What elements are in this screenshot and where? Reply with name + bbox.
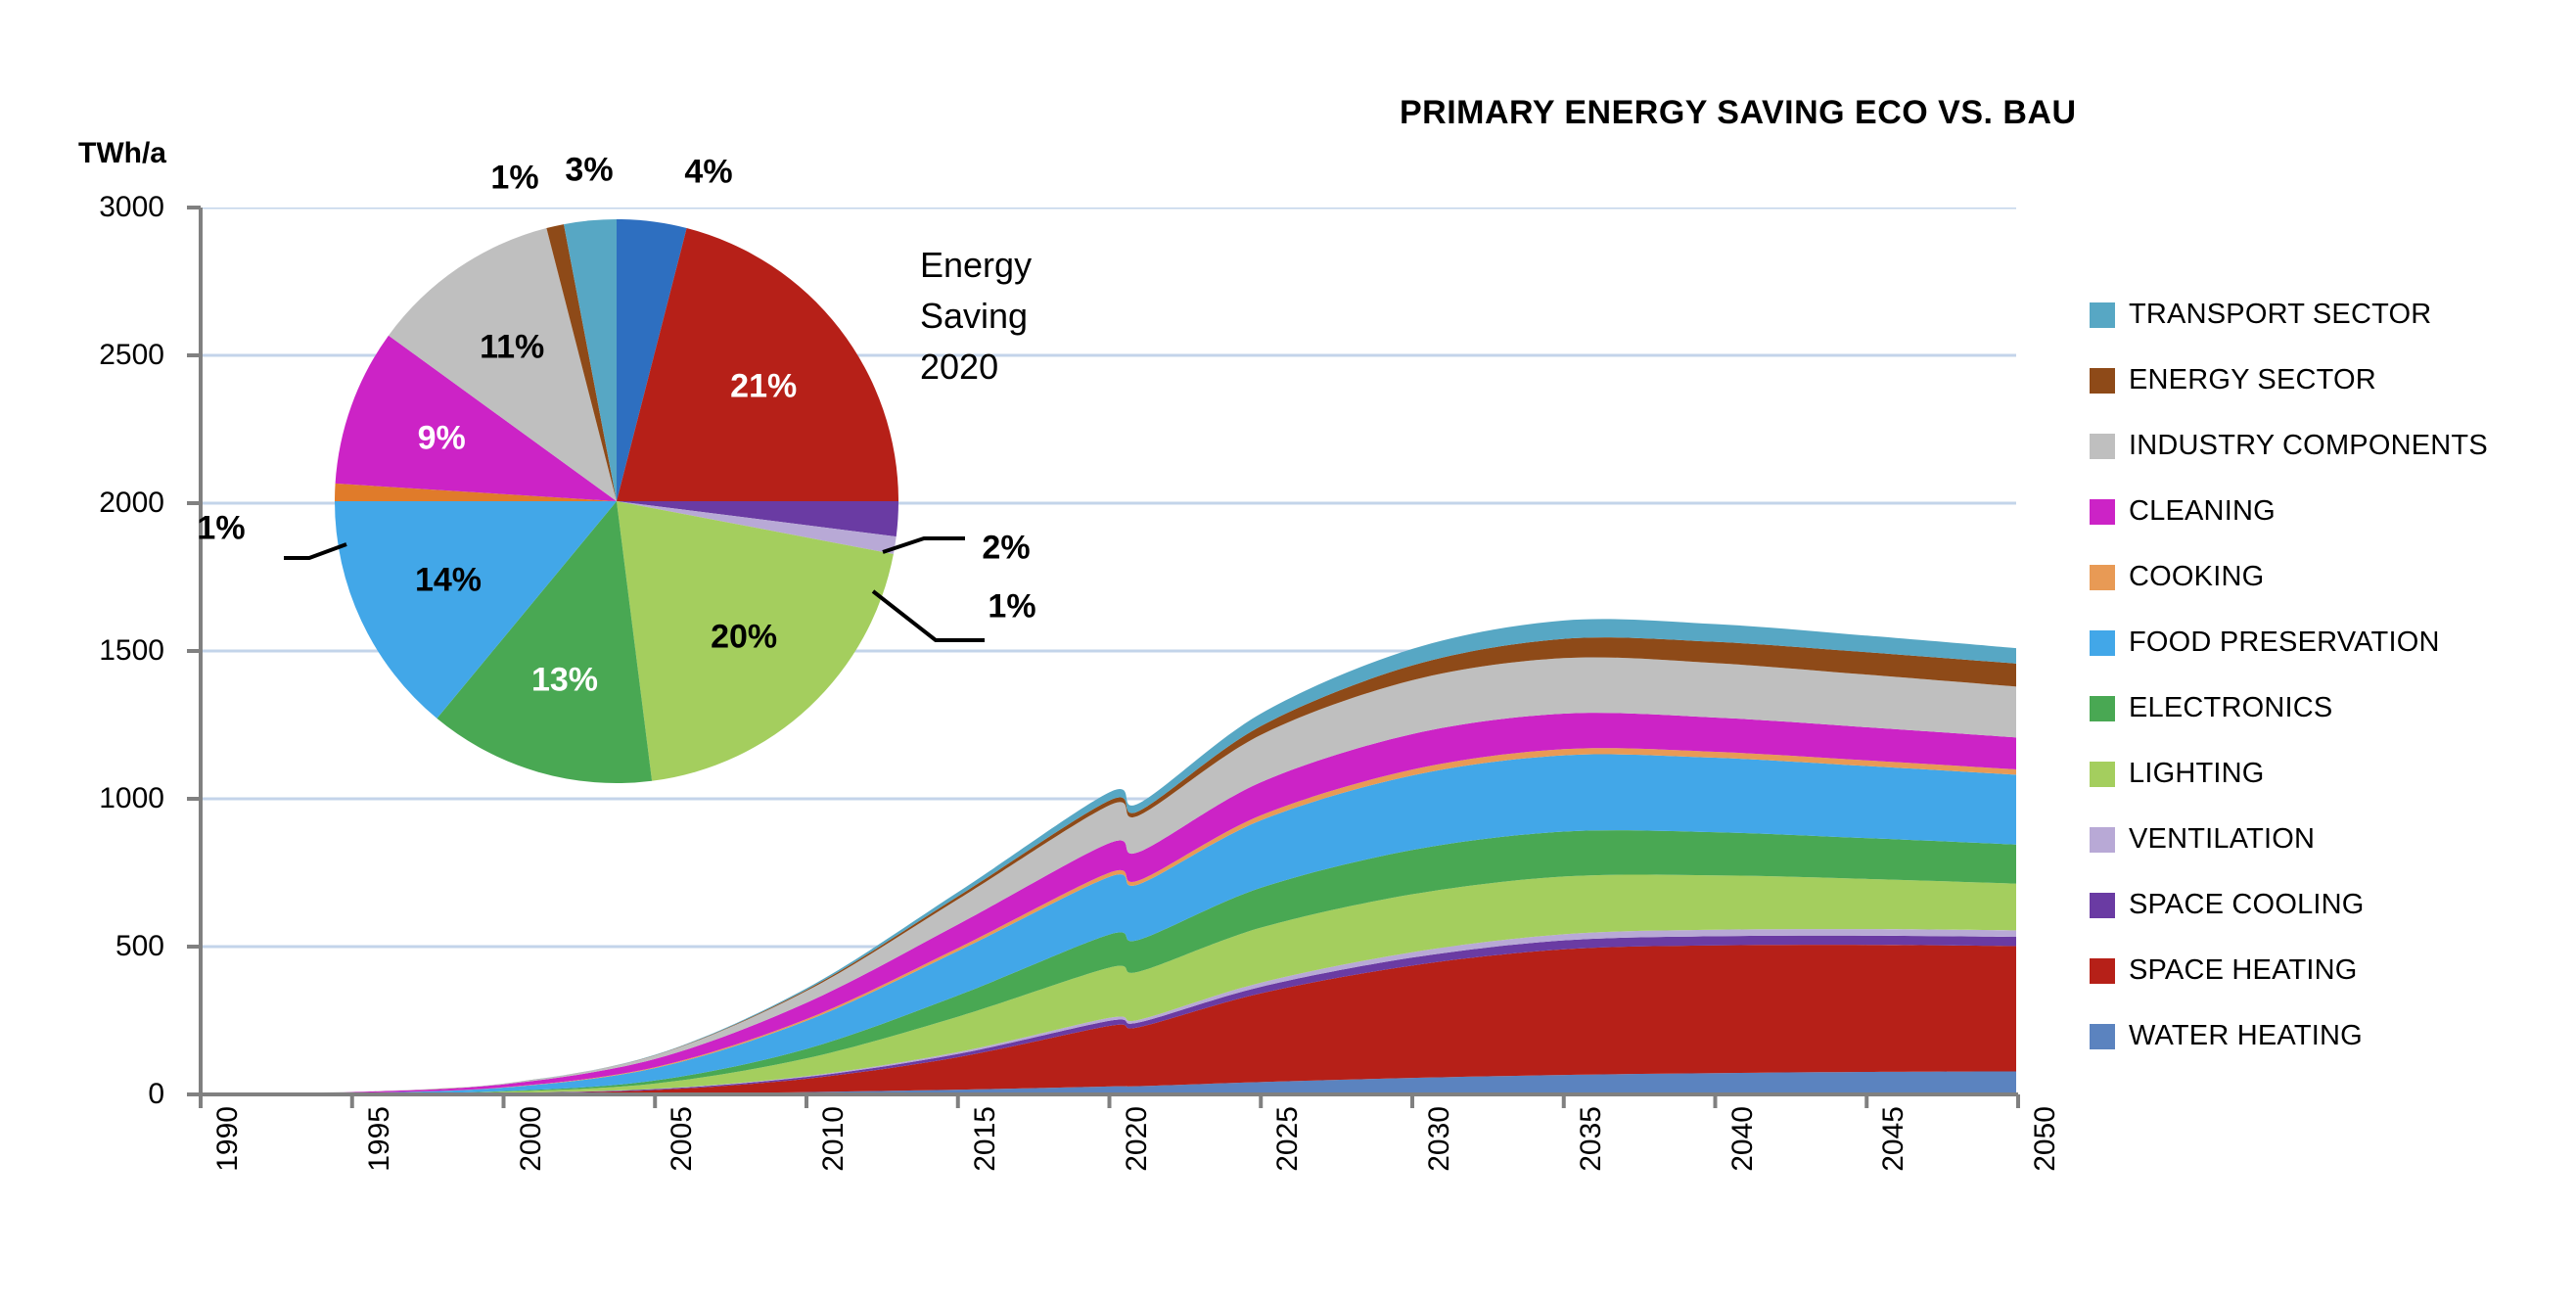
legend-swatch-icon bbox=[2090, 696, 2115, 721]
legend-item[interactable]: CLEANING bbox=[2090, 479, 2550, 544]
legend-item-label: CLEANING bbox=[2129, 495, 2276, 528]
legend-swatch-icon bbox=[2090, 302, 2115, 328]
pie-slice-percentage: 1% bbox=[490, 160, 538, 198]
pie-slice-percentage: 11% bbox=[480, 328, 544, 366]
x-tick-label: 2020 bbox=[1121, 1106, 1154, 1172]
legend-item[interactable]: LIGHTING bbox=[2090, 741, 2550, 807]
legend-item-label: INDUSTRY COMPONENTS bbox=[2129, 430, 2488, 462]
legend-swatch-icon bbox=[2090, 499, 2115, 525]
legend-item-label: FOOD PRESERVATION bbox=[2129, 627, 2440, 659]
pie-slice-percentage: 3% bbox=[565, 152, 613, 190]
x-tick-label: 2015 bbox=[969, 1106, 1002, 1172]
x-axis-ticks: 1990199520002005201020152020202520302035… bbox=[201, 1106, 2016, 1292]
legend-item-label: LIGHTING bbox=[2129, 758, 2265, 790]
pie-slice-percentage: 4% bbox=[684, 154, 732, 192]
y-tick-label: 2000 bbox=[99, 487, 164, 520]
y-tick-label: 0 bbox=[148, 1078, 164, 1111]
x-tick-label: 2045 bbox=[1877, 1106, 1910, 1172]
legend-item[interactable]: COOKING bbox=[2090, 544, 2550, 610]
legend-item-label: ELECTRONICS bbox=[2129, 692, 2332, 724]
legend-swatch-icon bbox=[2090, 630, 2115, 656]
legend-item[interactable]: VENTILATION bbox=[2090, 807, 2550, 872]
x-tick-label: 1995 bbox=[363, 1106, 396, 1172]
y-tick-label: 1500 bbox=[99, 634, 164, 668]
pie-slices bbox=[333, 217, 900, 785]
legend-item[interactable]: FOOD PRESERVATION bbox=[2090, 610, 2550, 675]
x-tick-label: 2035 bbox=[1575, 1106, 1608, 1172]
pie-chart: 4%21%2%1%20%13%14%1%9%11%1%3% bbox=[333, 217, 900, 785]
legend-item[interactable]: SPACE COOLING bbox=[2090, 872, 2550, 938]
pie-slice-percentage: 1% bbox=[988, 588, 1035, 627]
pie-slice-percentage: 13% bbox=[531, 661, 598, 699]
pie-slice-percentage: 20% bbox=[711, 618, 777, 656]
legend-item-label: WATER HEATING bbox=[2129, 1020, 2363, 1052]
chart-page: PRIMARY ENERGY SAVING ECO VS. BAU TWh/a … bbox=[0, 0, 2576, 1300]
legend-item[interactable]: ELECTRONICS bbox=[2090, 675, 2550, 741]
y-tick-label: 2500 bbox=[99, 339, 164, 372]
legend-swatch-icon bbox=[2090, 958, 2115, 984]
legend-item[interactable]: WATER HEATING bbox=[2090, 1003, 2550, 1069]
pie-title: Energy Saving 2020 bbox=[920, 240, 1032, 393]
y-tick-label: 500 bbox=[115, 930, 164, 963]
y-axis-ticks: 050010001500200025003000 bbox=[0, 0, 186, 1300]
legend-item-label: TRANSPORT SECTOR bbox=[2129, 299, 2431, 331]
y-tick-label: 3000 bbox=[99, 191, 164, 224]
x-tick-label: 2005 bbox=[666, 1106, 699, 1172]
page-title: PRIMARY ENERGY SAVING ECO VS. BAU bbox=[1400, 94, 2077, 132]
legend-swatch-icon bbox=[2090, 1024, 2115, 1049]
x-tick-label: 2000 bbox=[515, 1106, 548, 1172]
legend-swatch-icon bbox=[2090, 827, 2115, 853]
legend-swatch-icon bbox=[2090, 565, 2115, 590]
pie-slice-percentage: 9% bbox=[418, 419, 466, 457]
x-tick-label: 2025 bbox=[1271, 1106, 1305, 1172]
legend-swatch-icon bbox=[2090, 762, 2115, 787]
x-tick-label: 1990 bbox=[211, 1106, 245, 1172]
x-tick-label: 2010 bbox=[817, 1106, 851, 1172]
pie-slice-percentage: 14% bbox=[415, 561, 482, 599]
legend-item-label: VENTILATION bbox=[2129, 823, 2315, 856]
x-tick-label: 2050 bbox=[2029, 1106, 2062, 1172]
legend-item[interactable]: ENERGY SECTOR bbox=[2090, 348, 2550, 413]
legend-item-label: ENERGY SECTOR bbox=[2129, 364, 2376, 396]
legend-item-label: SPACE COOLING bbox=[2129, 889, 2365, 921]
legend-swatch-icon bbox=[2090, 434, 2115, 459]
x-tick-label: 2040 bbox=[1726, 1106, 1760, 1172]
pie-slice-percentage: 21% bbox=[730, 368, 797, 406]
legend-item[interactable]: INDUSTRY COMPONENTS bbox=[2090, 413, 2550, 479]
legend-item[interactable]: SPACE HEATING bbox=[2090, 938, 2550, 1003]
legend-swatch-icon bbox=[2090, 368, 2115, 394]
pie-slice-percentage: 1% bbox=[197, 510, 245, 548]
x-tick-label: 2030 bbox=[1423, 1106, 1456, 1172]
pie-slice-percentage: 2% bbox=[982, 530, 1030, 568]
legend-item-label: COOKING bbox=[2129, 561, 2264, 593]
y-tick-label: 1000 bbox=[99, 782, 164, 815]
legend: TRANSPORT SECTORENERGY SECTORINDUSTRY CO… bbox=[2090, 282, 2550, 1069]
legend-item[interactable]: TRANSPORT SECTOR bbox=[2090, 282, 2550, 348]
legend-swatch-icon bbox=[2090, 893, 2115, 918]
legend-item-label: SPACE HEATING bbox=[2129, 954, 2358, 987]
